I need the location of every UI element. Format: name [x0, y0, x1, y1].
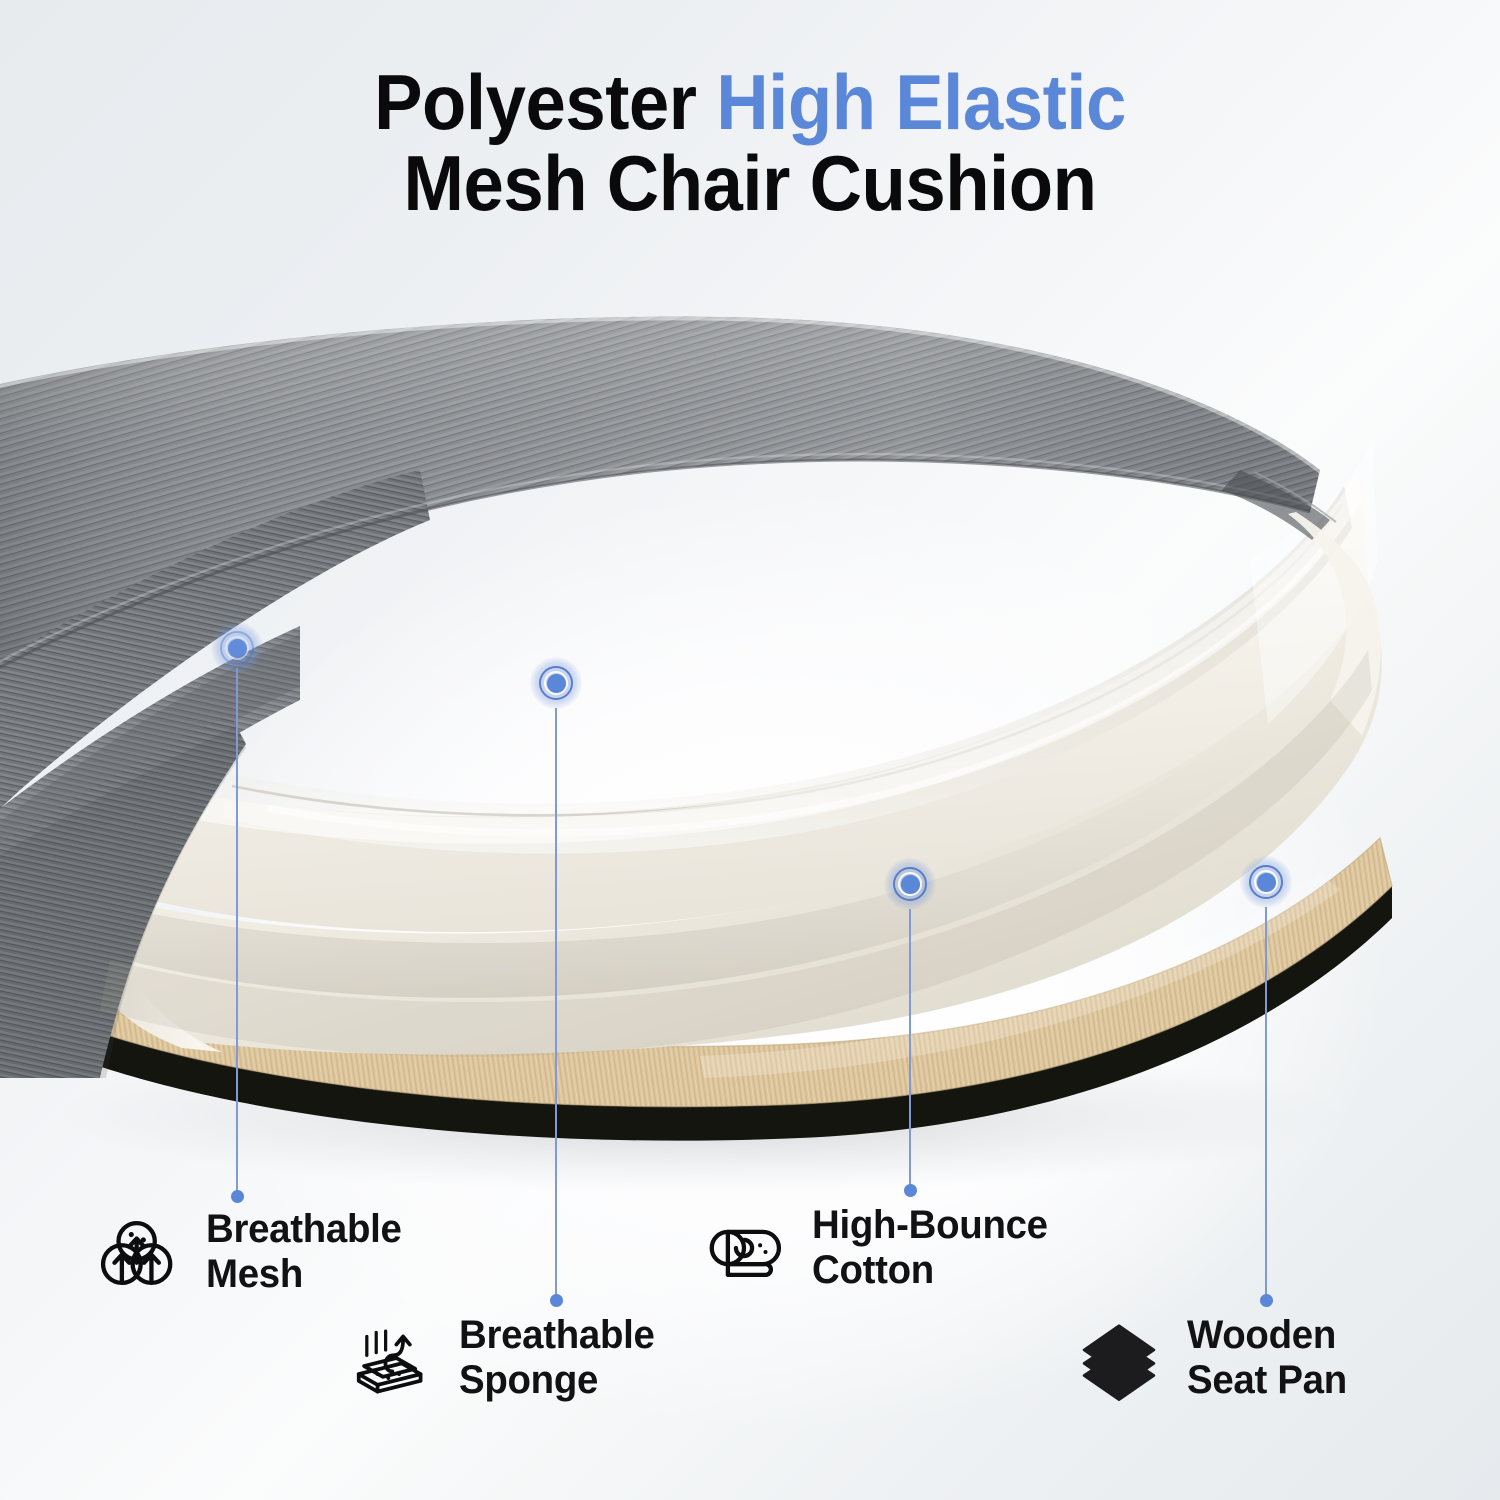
callout-breathable-sponge[interactable]: Breathable Sponge	[345, 1312, 663, 1404]
title-text-polyester: Polyester	[374, 58, 716, 146]
cotton-roll-icon	[698, 1202, 790, 1294]
leader-line-wooden-seat-pan	[1265, 907, 1267, 1300]
callout-breathable-mesh[interactable]: Breathable Mesh	[92, 1206, 410, 1298]
airflow-circles-icon	[92, 1206, 184, 1298]
callout-high-bounce-cotton[interactable]: High-Bounce Cotton	[698, 1202, 1058, 1294]
title-text-high-elastic: High Elastic	[716, 58, 1126, 146]
sponge-mat-icon	[345, 1312, 437, 1404]
leader-end-breathable-sponge	[550, 1294, 563, 1307]
leader-end-high-bounce-cotton	[904, 1184, 917, 1197]
leader-line-high-bounce-cotton	[909, 909, 911, 1190]
leader-end-breathable-mesh	[231, 1190, 244, 1203]
callout-label-breathable-mesh: Breathable Mesh	[206, 1207, 402, 1297]
title-line-2: Mesh Chair Cushion	[53, 143, 1448, 224]
infographic-canvas: Polyester High Elastic Mesh Chair Cushio…	[0, 0, 1500, 1500]
callout-label-breathable-sponge: Breathable Sponge	[459, 1313, 655, 1403]
title-line-1: Polyester High Elastic	[53, 62, 1448, 143]
page-title: Polyester High Elastic Mesh Chair Cushio…	[0, 62, 1500, 224]
leader-line-breathable-mesh	[236, 668, 238, 1196]
callout-label-wooden-seat-pan: Wooden Seat Pan	[1187, 1313, 1347, 1403]
stacked-layers-icon	[1073, 1312, 1165, 1404]
leader-line-breathable-sponge	[555, 708, 557, 1300]
callout-label-high-bounce-cotton: High-Bounce Cotton	[812, 1203, 1048, 1293]
leader-end-wooden-seat-pan	[1260, 1294, 1273, 1307]
callout-wooden-seat-pan[interactable]: Wooden Seat Pan	[1073, 1312, 1354, 1404]
